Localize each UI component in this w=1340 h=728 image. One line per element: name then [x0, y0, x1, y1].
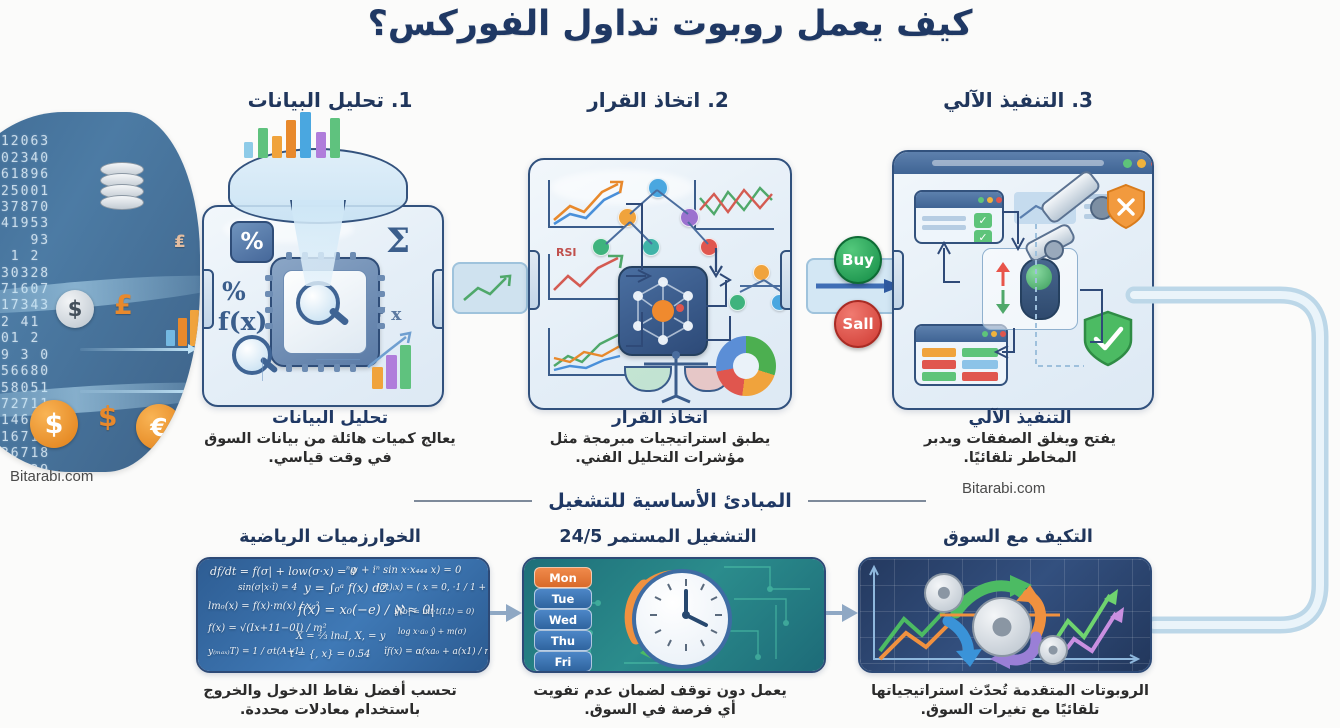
caption-title: اتخاذ القرار [510, 408, 810, 428]
funnel-neck [290, 200, 346, 286]
gear-icon-tiny [1038, 635, 1068, 665]
equation: X = ⅔ ln₀I, X, = y [296, 631, 385, 642]
watermark: Bitarabi.com [10, 468, 93, 485]
caption-step-2: اتخاذ القرار يطبق استراتيجيات مبرمجة مثل… [510, 408, 810, 468]
caption-step-1: تحليل البيانات يعالج كميات هائلة من بيان… [180, 408, 480, 468]
clock-icon [632, 569, 732, 669]
panel-ear [432, 269, 444, 329]
step-header-2: 2. اتخاذ القرار [508, 88, 808, 112]
coin-dollar-orange: $ [30, 400, 78, 448]
caption-line1: يعمل دون توقف لضمان عدم تفويت [510, 682, 810, 701]
day-pill-fri[interactable]: Fri [534, 651, 592, 672]
mini-bar [142, 470, 153, 472]
principle-caption-2: يعمل دون توقف لضمان عدم تفويت أي فرصة في… [510, 682, 810, 720]
connector-1-2 [452, 262, 528, 314]
mini-bar [190, 310, 199, 346]
equation: ⁿ𝜓 + 𝑖ⁿ sin x·x₄₄₄ x) = 0 [346, 565, 461, 576]
caption-title: التنفيذ الآلي [870, 408, 1170, 428]
currency-symbol: ₤ [174, 232, 186, 252]
caption-desc-line1: يفتح ويغلق الصفقات ويدبر [870, 430, 1170, 449]
caption-line2: تلقائيًا مع تغيرات السوق. [850, 701, 1170, 720]
funnel-bar [330, 118, 340, 158]
caption-desc-line2: المخاطر تلقائيًا. [870, 449, 1170, 468]
divider-line [808, 500, 926, 502]
panel-math-algorithms: df/dt = f(σ| + low(σ·x) = 0 ⁿ𝜓 + 𝑖ⁿ sin … [196, 557, 490, 673]
equation: sin(σ|x·ǐ) = 4 [238, 583, 297, 593]
panel-market-adaptation [858, 557, 1152, 673]
panel-ear [202, 269, 214, 329]
panel-ear [892, 250, 904, 310]
panel-automated-execution: ✓ ✓ [892, 150, 1154, 410]
panel-24-5-operation: Mon Tue Wed Thu Fri [522, 557, 826, 673]
funnel-bar [272, 136, 282, 158]
principle-caption-1: تحسب أفضل نقاط الدخول والخروج باستخدام م… [180, 682, 480, 720]
panel-ear [528, 250, 540, 310]
gear-icon-small [924, 573, 964, 613]
caption-desc-line2: مؤشرات التحليل الفني. [510, 449, 810, 468]
stream-arrow [80, 348, 190, 351]
caption-title: تحليل البيانات [180, 408, 480, 428]
principle-header-3: التكيف مع السوق [868, 527, 1168, 547]
equation: ť = {, x} = 0.54 [290, 649, 370, 660]
flow-arrows [530, 160, 790, 408]
equation: log x·a₀ ŷ + m(σ) [398, 627, 466, 636]
mini-bar [166, 330, 175, 346]
funnel-bar [258, 128, 268, 158]
fx-symbol: f(x) [218, 307, 267, 336]
principle-header-2: التشغيل المستمر 24/5 [508, 527, 808, 547]
day-pill-mon[interactable]: Mon [534, 567, 592, 588]
day-pill-thu[interactable]: Thu [534, 630, 592, 651]
divider-label: المبادئ الأساسية للتشغيل [548, 490, 792, 512]
funnel-bar [244, 142, 253, 158]
infographic-canvas: كيف يعمل روبوت تداول الفوركس؟ 5166 7 816… [0, 0, 1340, 728]
pound-symbol: £ [114, 290, 133, 321]
caption-step-3: التنفيذ الآلي يفتح ويغلق الصفقات ويدبر ا… [870, 408, 1170, 468]
funnel-icon [228, 148, 408, 288]
mini-bar [178, 318, 187, 346]
execution-flow-arrows [894, 152, 1152, 408]
caption-desc-line1: يطبق استراتيجيات مبرمجة مثل [510, 430, 810, 449]
mini-bar [156, 456, 167, 472]
gear-icon-large [972, 597, 1032, 657]
funnel-bar [286, 120, 296, 158]
day-pill-wed[interactable]: Wed [534, 609, 592, 630]
panel-decision: RSI [528, 158, 792, 410]
buy-signal-badge[interactable]: Buy [834, 236, 882, 284]
database-icon [100, 162, 142, 208]
section-divider: المبادئ الأساسية للتشغيل [0, 490, 1340, 512]
connector-arrow-bottom-1 [488, 600, 524, 626]
panel-ear [780, 250, 792, 310]
caption-line1: تحسب أفضل نقاط الدخول والخروج [180, 682, 480, 701]
coin-euro-orange: € [136, 404, 182, 450]
caption-line2: أي فرصة في السوق. [510, 701, 810, 720]
funnel-bar [316, 132, 326, 158]
coin-dollar-silver: $ [56, 290, 94, 328]
sell-signal-badge[interactable]: Sall [834, 300, 882, 348]
equation: |f(b| = int·t(I,t) = 0) [394, 607, 474, 616]
equation: df/dt = f(σ| + low(σ·x) = 0 [210, 565, 357, 578]
connector-arrow-bottom-2 [824, 600, 860, 626]
caption-desc-line2: في وقت قياسي. [180, 449, 480, 468]
day-pill-tue[interactable]: Tue [534, 588, 592, 609]
stream-arrow [80, 390, 192, 393]
page-title: كيف يعمل روبوت تداول الفوركس؟ [0, 4, 1340, 44]
data-stream-blob: 5166 7 8169 12063 9049 02340 7429 61896 … [0, 112, 200, 472]
dollar-symbol: $ [98, 400, 117, 433]
trend-arrow [364, 329, 424, 373]
divider-line [414, 500, 532, 502]
caption-line1: الروبوتات المتقدمة تُحدّث استراتيجياتها [850, 682, 1170, 701]
loop-pipe [1130, 255, 1340, 655]
step-header-3: 3. التنفيذ الآلي [868, 88, 1168, 112]
funnel-bar [300, 112, 311, 158]
caption-desc-line1: يعالج كميات هائلة من بيانات السوق [180, 430, 480, 449]
equation: (σt)ᵢx) = ( x = 0, ·1 / 1 + U₍·0 ) [376, 583, 490, 593]
principle-header-1: الخوارزميات الرياضية [180, 527, 480, 547]
step-header-1: 1. تحليل البيانات [180, 88, 480, 112]
equation: ǐf(x) = α(xa₀ + a(x1) / m1 [384, 647, 490, 657]
principle-caption-3: الروبوتات المتقدمة تُحدّث استراتيجياتها … [850, 682, 1170, 720]
caption-line2: باستخدام معادلات محددة. [180, 701, 480, 720]
